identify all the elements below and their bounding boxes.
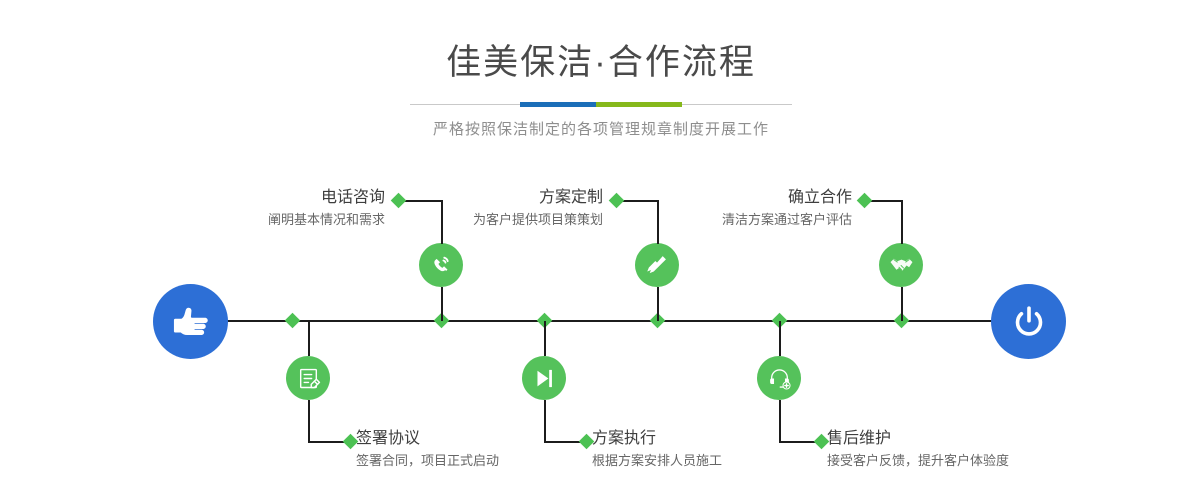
divider-segment-green <box>596 102 682 107</box>
customer-service-add-icon <box>767 366 792 391</box>
step-3-label-marker <box>609 193 625 209</box>
page-subtitle: 严格按照保洁制定的各项管理规章制度开展工作 <box>0 118 1202 139</box>
step-5-title: 确立合作 <box>630 188 852 208</box>
step-3-label: 方案定制 为客户提供项目策策划 <box>390 188 603 229</box>
step-3-title: 方案定制 <box>390 188 603 208</box>
play-next-icon <box>532 366 557 391</box>
page-header: 佳美保洁·合作流程 严格按照保洁制定的各项管理规章制度开展工作 <box>0 0 1202 139</box>
pencil-ruler-icon <box>644 252 670 278</box>
connector-step-4-stem <box>544 321 546 356</box>
axis-marker-1 <box>285 313 301 329</box>
step-5-label-marker <box>857 193 873 209</box>
flow-diagram-canvas: 佳美保洁·合作流程 严格按照保洁制定的各项管理规章制度开展工作 <box>0 0 1202 502</box>
pointing-hand-icon <box>170 301 212 343</box>
connector-step-3-stem <box>657 287 659 321</box>
connector-step-6-riser <box>779 400 781 442</box>
step-5-icon-node[interactable] <box>879 243 923 287</box>
step-6-subtitle: 接受客户反馈，提升客户体验度 <box>827 451 1127 470</box>
step-3-icon-node[interactable] <box>635 243 679 287</box>
step-2-icon-node[interactable] <box>286 356 330 400</box>
step-3-subtitle: 为客户提供项目策策划 <box>390 210 603 229</box>
document-edit-icon <box>296 366 321 391</box>
power-icon <box>1008 301 1050 343</box>
handshake-icon <box>888 252 915 279</box>
connector-step-5-riser <box>901 200 903 244</box>
timeline-start-node[interactable] <box>153 284 228 359</box>
step-4-icon-node[interactable] <box>522 356 566 400</box>
connector-step-4-riser <box>544 400 546 442</box>
connector-step-5-stem <box>901 287 903 321</box>
divider-segment-blue <box>520 102 596 107</box>
step-1-icon-node[interactable] <box>419 243 463 287</box>
step-1-title: 电话咨询 <box>153 188 385 208</box>
step-6-title: 售后维护 <box>827 429 1127 449</box>
connector-step-6-stem <box>779 321 781 356</box>
step-5-subtitle: 清洁方案通过客户评估 <box>630 210 852 229</box>
timeline-end-node[interactable] <box>991 284 1066 359</box>
step-1-subtitle: 阐明基本情况和需求 <box>153 210 385 229</box>
step-6-icon-node[interactable] <box>757 356 801 400</box>
connector-step-2-riser <box>308 400 310 442</box>
connector-step-2-stem <box>308 321 310 356</box>
connector-step-1-stem <box>441 287 443 321</box>
step-1-label: 电话咨询 阐明基本情况和需求 <box>153 188 385 229</box>
step-5-label: 确立合作 清洁方案通过客户评估 <box>630 188 852 229</box>
step-6-label: 售后维护 接受客户反馈，提升客户体验度 <box>827 429 1127 470</box>
page-title: 佳美保洁·合作流程 <box>0 45 1202 80</box>
title-divider <box>410 102 792 108</box>
phone-call-icon <box>428 252 454 278</box>
